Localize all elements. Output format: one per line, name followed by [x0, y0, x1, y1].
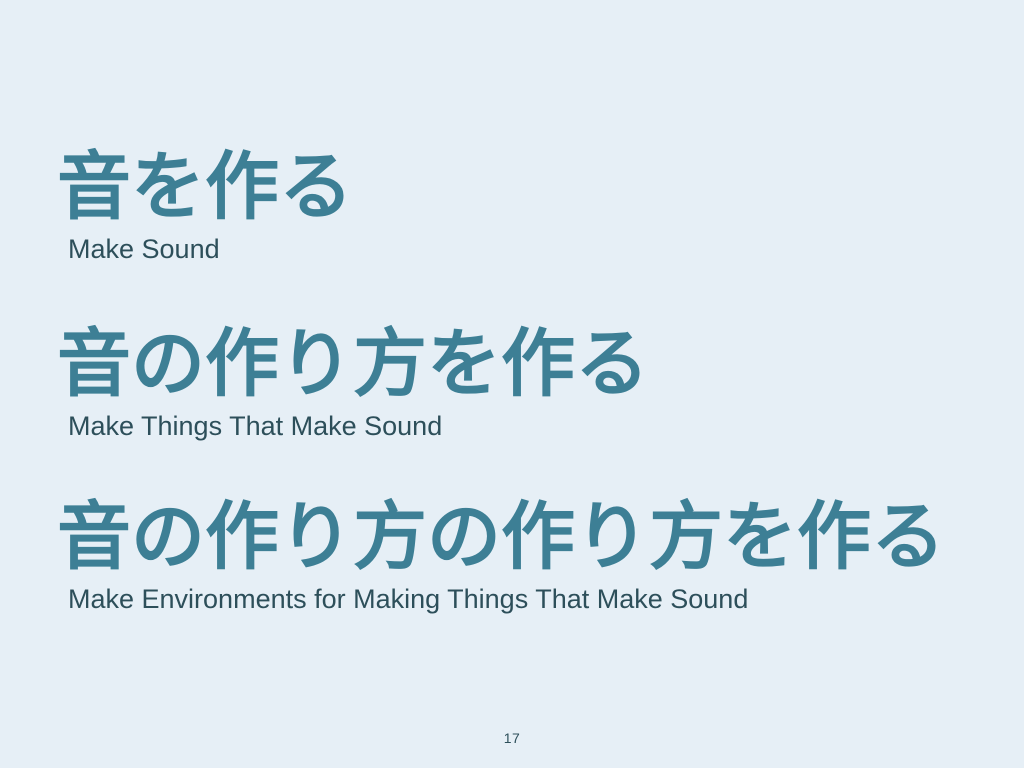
- statement-block-3: 音の作り方の作り方を作る Make Environments for Makin…: [0, 500, 1024, 613]
- statement-block-2: 音の作り方を作る Make Things That Make Sound: [0, 327, 1024, 440]
- presentation-slide: 音を作る Make Sound 音の作り方を作る Make Things Tha…: [0, 0, 1024, 768]
- statement-block-1: 音を作る Make Sound: [0, 150, 1024, 263]
- page-number: 17: [0, 730, 1024, 746]
- heading-japanese-3: 音の作り方の作り方を作る: [0, 500, 1024, 574]
- heading-japanese-2: 音の作り方を作る: [0, 327, 1024, 401]
- heading-japanese-1: 音を作る: [0, 150, 1024, 224]
